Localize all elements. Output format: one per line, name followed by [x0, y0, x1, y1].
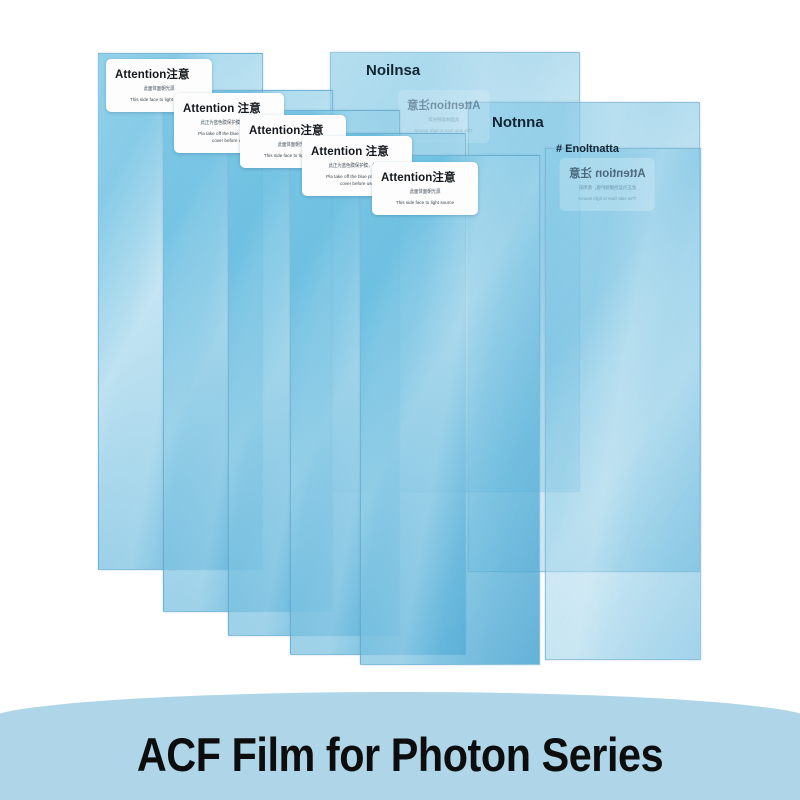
film-sheen	[546, 149, 700, 659]
label-title: Attention注意	[407, 97, 480, 113]
label-english-text: This side face to light source	[569, 196, 646, 203]
label-title: Attention注意	[115, 66, 203, 82]
label-title: Attention 注意	[183, 100, 275, 116]
product-image: Attention注意 此面体面朝光源 This side face to li…	[0, 0, 800, 800]
label-title: Attention 注意	[569, 165, 646, 181]
label-chinese-text: 此面体面朝光源	[407, 117, 480, 123]
film-rear-far	[545, 148, 701, 660]
label-title: Attention 注意	[311, 143, 403, 159]
ghost-label-rear-far: Attention 注意 此正为蓝色膜保护膜，使用前 This side fac…	[560, 158, 655, 211]
label-chinese-text: 此正为蓝色膜保护膜，使用前	[569, 185, 646, 191]
artifact-word-1: Noilnsa	[366, 62, 420, 79]
attention-label-5: Attention注意 此面体面朝光源 This side face to li…	[372, 162, 478, 215]
banner-title: ACF Film for Photon Series	[36, 727, 765, 782]
label-chinese-text: 此面体面朝光源	[115, 86, 203, 93]
product-banner: ACF Film for Photon Series	[0, 692, 800, 800]
film-5	[360, 155, 540, 665]
label-english-line2: cover before use	[340, 181, 374, 186]
artifact-word-2: Notnna	[492, 114, 544, 131]
label-title: Attention注意	[381, 169, 469, 185]
film-sheen	[361, 156, 539, 664]
label-english-text: This side face to light source	[381, 200, 469, 207]
artifact-word-3: # Enoltnatta	[556, 143, 619, 155]
label-chinese-text: 此面体面朝光源	[381, 189, 469, 196]
